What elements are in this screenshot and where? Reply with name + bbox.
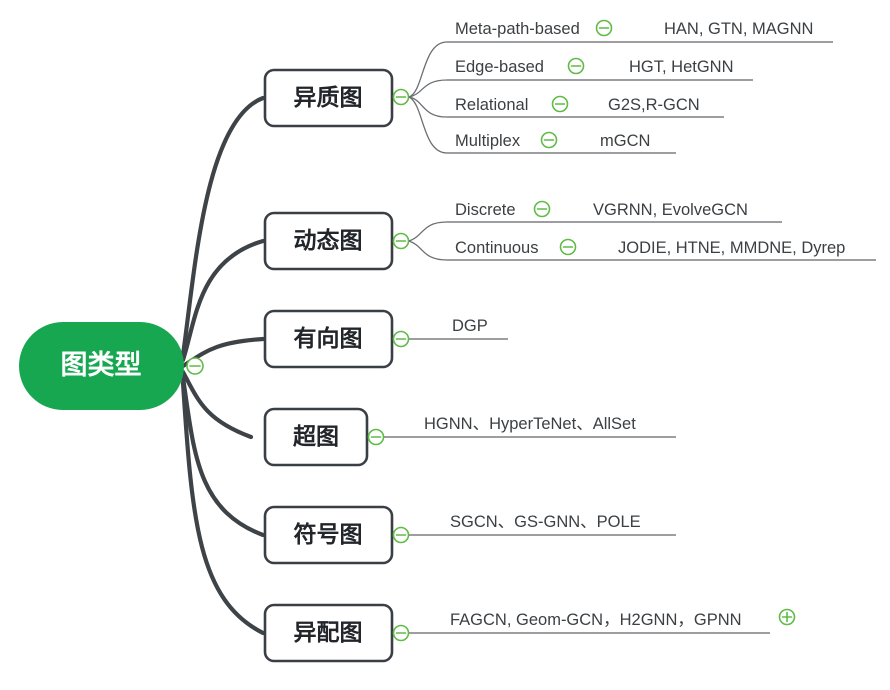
leaf-meta-path-based[interactable]: Meta-path-based HAN, GTN, MAGNN	[447, 20, 833, 42]
leaf-label-discrete: Discrete	[455, 201, 516, 219]
branch-toggle-signed-graph[interactable]	[394, 528, 409, 543]
leaf-toggle-continuous[interactable]	[561, 240, 576, 255]
leaf-toggle-multiplex[interactable]	[542, 133, 557, 148]
leaf-hypergraph-models[interactable]: HGNN、HyperTeNet、AllSet	[384, 415, 676, 437]
leaf-toggle-meta-path-based[interactable]	[597, 21, 612, 36]
branch-toggle-hypergraph[interactable]	[369, 430, 384, 445]
twig-to-continuous	[409, 241, 447, 260]
leaf-models-meta-path-based: HAN, GTN, MAGNN	[664, 20, 813, 38]
leaf-signed-graph-models[interactable]: SGCN、GS-GNN、POLE	[409, 513, 676, 535]
leaf-edge-based[interactable]: Edge-based HGT, HetGNN	[447, 58, 753, 80]
twigs-heterogeneous-graph	[409, 42, 447, 153]
mindmap-canvas: 图类型 异质图 Meta-path-based	[0, 0, 890, 690]
branch-hypergraph[interactable]: 超图	[265, 409, 367, 465]
twig-to-meta-path-based	[409, 42, 447, 97]
leaf-label-meta-path-based: Meta-path-based	[455, 20, 580, 38]
twig-to-edge-based	[409, 80, 447, 97]
twig-to-multiplex	[409, 97, 447, 153]
leaf-models-heterophilous-graph: FAGCN, Geom-GCN，H2GNN，GPNN	[450, 611, 742, 629]
branch-signed-graph[interactable]: 符号图	[265, 507, 392, 563]
leaf-models-multiplex: mGCN	[600, 132, 650, 150]
leaf-multiplex[interactable]: Multiplex mGCN	[447, 132, 676, 153]
branch-heterogeneous-graph[interactable]: 异质图	[265, 70, 392, 126]
branch-label-dynamic-graph: 动态图	[294, 227, 363, 253]
branch-label-signed-graph: 符号图	[294, 521, 363, 547]
leaf-discrete[interactable]: Discrete VGRNN, EvolveGCN	[447, 201, 782, 222]
branch-label-directed-graph: 有向图	[294, 325, 363, 351]
leaf-toggle-relational[interactable]	[553, 97, 568, 112]
leaf-models-relational: G2S,R-GCN	[608, 96, 700, 114]
leaf-directed-graph-models[interactable]: DGP	[409, 317, 508, 339]
branch-dynamic-graph[interactable]: 动态图	[265, 213, 392, 269]
twigs-dynamic-graph	[409, 222, 447, 260]
leaf-models-hypergraph: HGNN、HyperTeNet、AllSet	[424, 415, 636, 433]
leaf-models-signed-graph: SGCN、GS-GNN、POLE	[450, 513, 641, 531]
twig-to-discrete	[409, 222, 447, 241]
root-toggle[interactable]	[187, 358, 203, 374]
root-node[interactable]: 图类型	[19, 322, 184, 410]
leaf-models-discrete: VGRNN, EvolveGCN	[593, 201, 748, 219]
leaf-models-edge-based: HGT, HetGNN	[629, 58, 734, 76]
leaf-label-edge-based: Edge-based	[455, 58, 544, 76]
branch-label-heterogeneous-graph: 异质图	[294, 84, 363, 110]
leaf-models-continuous: JODIE, HTNE, MMDNE, Dyrep	[618, 239, 845, 257]
branch-label-hypergraph: 超图	[293, 423, 339, 449]
leaf-heterophilous-graph-models[interactable]: FAGCN, Geom-GCN，H2GNN，GPNN	[409, 610, 795, 634]
leaf-models-directed-graph: DGP	[452, 317, 488, 335]
leaf-label-multiplex: Multiplex	[455, 132, 521, 150]
leaf-expand-toggle-heterophilous-graph[interactable]	[780, 610, 795, 625]
branch-heterophilous-graph[interactable]: 异配图	[265, 605, 392, 661]
leaf-toggle-discrete[interactable]	[535, 202, 550, 217]
branch-toggle-heterogeneous-graph[interactable]	[394, 90, 409, 105]
branch-toggle-heterophilous-graph[interactable]	[394, 626, 409, 641]
trunk-to-hypergraph	[183, 372, 251, 437]
leaf-label-continuous: Continuous	[455, 239, 538, 257]
leaf-toggle-edge-based[interactable]	[569, 59, 584, 74]
branch-toggle-directed-graph[interactable]	[394, 332, 409, 347]
branch-label-heterophilous-graph: 异配图	[294, 619, 363, 645]
twig-to-relational	[409, 97, 447, 117]
leaf-relational[interactable]: Relational G2S,R-GCN	[447, 96, 724, 117]
leaf-continuous[interactable]: Continuous JODIE, HTNE, MMDNE, Dyrep	[447, 239, 876, 260]
root-node-label: 图类型	[61, 350, 142, 380]
branch-directed-graph[interactable]: 有向图	[265, 311, 392, 367]
branch-toggle-dynamic-graph[interactable]	[394, 234, 409, 249]
leaf-label-relational: Relational	[455, 96, 528, 114]
